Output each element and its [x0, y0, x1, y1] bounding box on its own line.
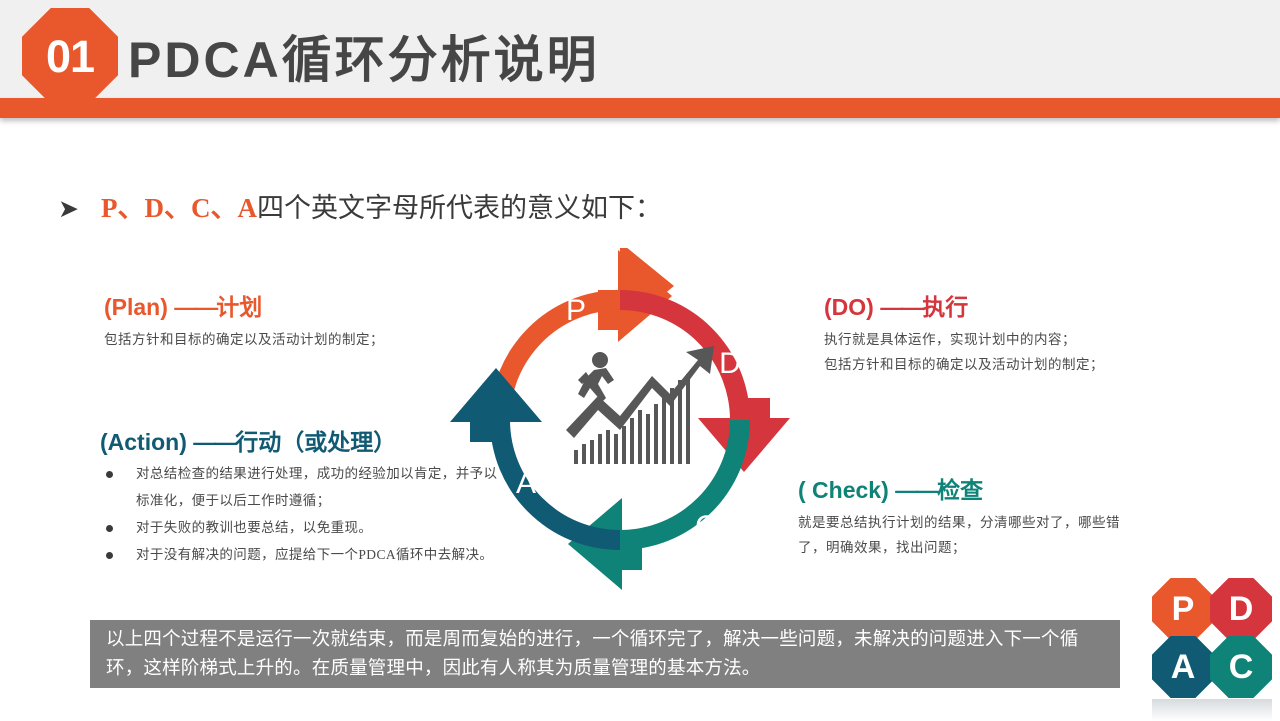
- cycle-label-check: C: [695, 510, 717, 543]
- section-do: (DO) ——执行 执行就是具体运作，实现计划中的内容； 包括方针和目标的确定以…: [824, 295, 1224, 378]
- section-action-bullet-list: 对总结检查的结果进行处理，成功的经验加以肯定，并予以标准化，便于以后工作时遵循；…: [100, 461, 500, 568]
- section-number-text: 01: [46, 34, 94, 79]
- subtitle-highlight: P、D、C、A: [101, 186, 257, 225]
- section-check-body-line-2: 了，明确效果，找出问题；: [798, 536, 1198, 561]
- section-check-heading-dash: ——: [895, 477, 937, 503]
- section-do-heading-dash: ——: [880, 294, 922, 320]
- section-number-badge: 01: [22, 8, 118, 104]
- page-title: PDCA循环分析说明: [128, 20, 600, 92]
- logo-letter-p: P: [1172, 592, 1195, 626]
- section-check-heading: ( Check) ——检查: [798, 478, 1198, 503]
- section-action: (Action) ——行动（或处理） 对总结检查的结果进行处理，成功的经验加以肯…: [100, 430, 500, 570]
- cycle-arrowhead-action: [450, 368, 542, 422]
- section-check-heading-cn: 检查: [937, 477, 983, 503]
- section-plan-heading: (Plan) ——计划: [104, 295, 504, 320]
- section-do-body-line-2: 包括方针和目标的确定以及活动计划的制定；: [824, 353, 1224, 378]
- section-action-heading-en: (Action): [100, 429, 187, 455]
- section-action-heading-dash: ——: [193, 429, 235, 455]
- subtitle-rest: 四个英文字母所代表的意义如下：: [257, 186, 662, 225]
- section-check-heading-en: ( Check): [798, 477, 889, 503]
- section-plan-heading-cn: 计划: [216, 294, 262, 320]
- logo-octagon-c: C: [1210, 636, 1272, 698]
- summary-banner: 以上四个过程不是运行一次就结束，而是周而复始的进行，一个循环完了，解决一些问题，…: [90, 620, 1120, 688]
- section-action-heading: (Action) ——行动（或处理）: [100, 430, 500, 455]
- section-plan-body-line-1: 包括方针和目标的确定以及活动计划的制定；: [104, 328, 504, 353]
- section-plan-heading-en: (Plan): [104, 294, 168, 320]
- section-check: ( Check) ——检查 就是要总结执行计划的结果，分清哪些对了，哪些错 了，…: [798, 478, 1198, 561]
- cycle-arrow-action-body: [470, 420, 510, 442]
- pdca-logo: P D A C: [1152, 578, 1274, 720]
- section-do-heading: (DO) ——执行: [824, 295, 1224, 320]
- list-item: 对于失败的教训也要总结，以免重现。: [100, 515, 500, 541]
- header-accent-bar: [0, 98, 1280, 118]
- logo-octagon-a: A: [1152, 636, 1214, 698]
- cycle-label-action: A: [516, 467, 536, 500]
- logo-reflection: [1152, 699, 1272, 721]
- section-check-body-line-1: 就是要总结执行计划的结果，分清哪些对了，哪些错: [798, 511, 1198, 536]
- slide-header: 01 PDCA循环分析说明: [0, 0, 1280, 106]
- section-action-heading-cn: 行动（或处理）: [235, 429, 396, 455]
- section-do-heading-en: (DO): [824, 294, 874, 320]
- logo-letter-a: A: [1171, 650, 1196, 684]
- list-item: 对总结检查的结果进行处理，成功的经验加以肯定，并予以标准化，便于以后工作时遵循；: [100, 461, 500, 514]
- section-plan-heading-dash: ——: [174, 294, 216, 320]
- cycle-arrow-check-body: [620, 530, 642, 570]
- summary-banner-text: 以上四个过程不是运行一次就结束，而是周而复始的进行，一个循环完了，解决一些问题，…: [106, 625, 1104, 682]
- cycle-arrow-plan-body: [598, 290, 620, 330]
- pdca-cycle-diagram: P D C A: [448, 248, 792, 592]
- cycle-arrow-do-body: [730, 398, 770, 420]
- subtitle: ➤ P、D、C、A 四个英文字母所代表的意义如下：: [58, 186, 662, 225]
- section-plan: (Plan) ——计划 包括方针和目标的确定以及活动计划的制定；: [104, 295, 504, 353]
- section-do-heading-cn: 执行: [922, 294, 968, 320]
- cycle-label-do: D: [719, 347, 741, 380]
- list-item: 对于没有解决的问题，应提给下一个PDCA循环中去解决。: [100, 542, 500, 568]
- running-man-growth-chart-icon: [566, 346, 714, 464]
- logo-octagon-d: D: [1210, 578, 1272, 640]
- cycle-label-plan: P: [566, 294, 586, 327]
- chevron-right-marker-icon: ➤: [58, 194, 79, 224]
- logo-octagon-p: P: [1152, 578, 1214, 640]
- logo-letter-d: D: [1229, 592, 1254, 626]
- logo-letter-c: C: [1229, 650, 1254, 684]
- section-do-body-line-1: 执行就是具体运作，实现计划中的内容；: [824, 328, 1224, 353]
